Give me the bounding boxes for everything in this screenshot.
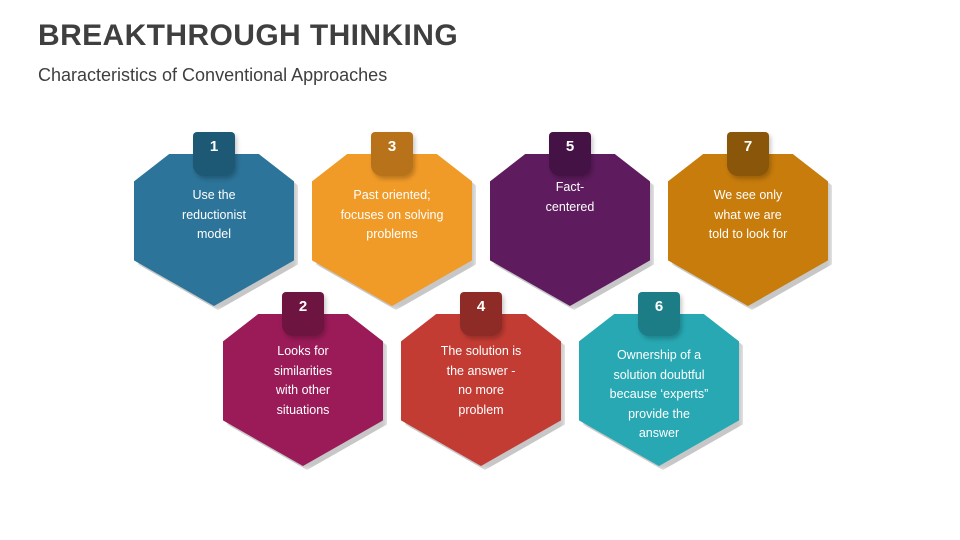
hex-label-3: Past oriented; focuses on solving proble… [312,186,472,245]
hex-label-6: Ownership of a solution doubtful because… [579,346,739,444]
hex-number-label: 1 [210,139,218,154]
hex-label-1: Use the reductionist model [134,186,294,245]
hex-number-label: 4 [477,299,485,314]
hex-label-2: Looks for similarities with other situat… [223,342,383,420]
hex-body-4: The solution is the answer - no more pro… [401,314,561,466]
hex-number-label: 7 [744,139,752,154]
hex-label-7: We see only what we are told to look for [668,186,828,245]
hex-badge-3: 3 [371,132,413,176]
hex-badge-1: 1 [193,132,235,176]
hex-body-5: Fact- centered [490,154,650,306]
hex-number-label: 5 [566,139,574,154]
hex-body-1: Use the reductionist model [134,154,294,306]
hex-badge-6: 6 [638,292,680,336]
hex-body-7: We see only what we are told to look for [668,154,828,306]
hex-number-label: 2 [299,299,307,314]
hex-number-label: 6 [655,299,663,314]
hex-label-5: Fact- centered [490,178,650,217]
hex-badge-4: 4 [460,292,502,336]
hex-body-6: Ownership of a solution doubtful because… [579,314,739,466]
hex-body-2: Looks for similarities with other situat… [223,314,383,466]
hex-label-4: The solution is the answer - no more pro… [401,342,561,420]
hex-body-3: Past oriented; focuses on solving proble… [312,154,472,306]
hexagon-diagram: 1Use the reductionist model2Looks for si… [0,0,960,540]
hex-number-label: 3 [388,139,396,154]
hex-badge-5: 5 [549,132,591,176]
hex-badge-7: 7 [727,132,769,176]
hex-badge-2: 2 [282,292,324,336]
